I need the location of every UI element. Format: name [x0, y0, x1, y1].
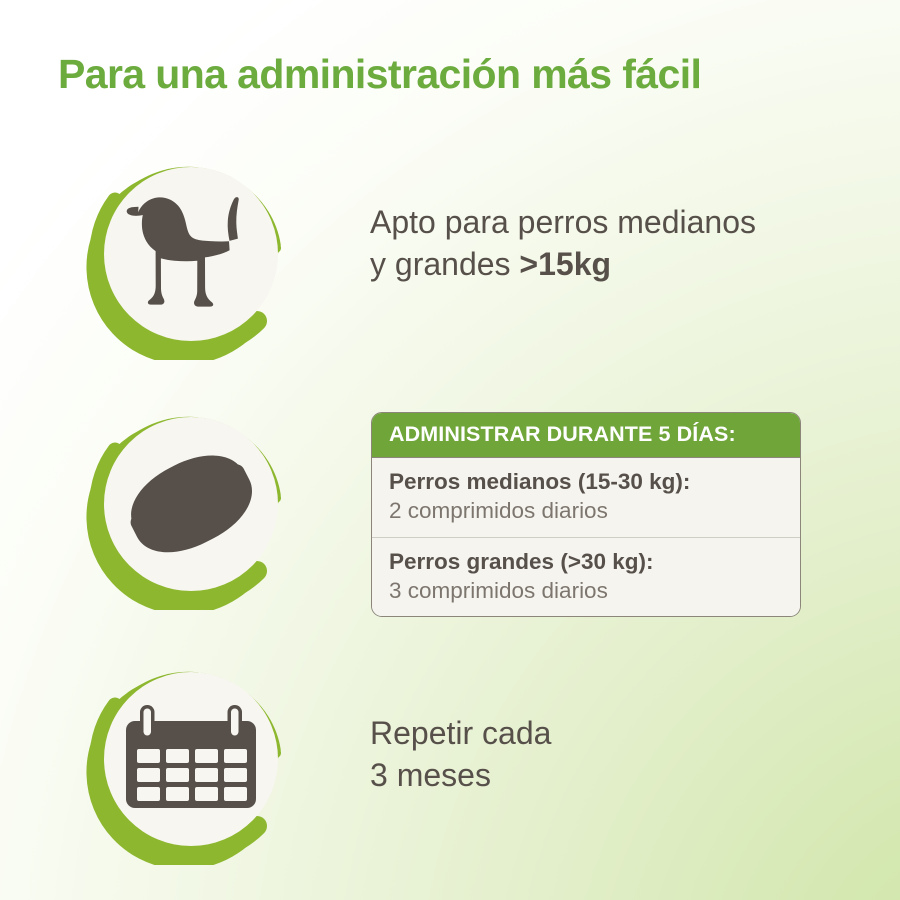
dosing-table-row: Perros medianos (15-30 kg): 2 comprimido… — [372, 458, 800, 537]
page-title: Para una administración más fácil — [58, 50, 858, 99]
feature-row-repeat: Repetir cada 3 meses — [0, 645, 900, 865]
feature-text-dog-size: Apto para perros medianos y grandes >15k… — [370, 202, 870, 286]
calendar-icon — [104, 672, 278, 846]
dog-icon — [104, 167, 278, 341]
dosing-table-row: Perros grandes (>30 kg): 3 comprimidos d… — [372, 537, 800, 617]
icon-badge-dog — [85, 148, 297, 360]
text-prefix: y grandes — [370, 246, 519, 282]
infographic-canvas: Para una administración más fácil — [0, 0, 900, 900]
dose-row-value: 2 comprimidos diarios — [389, 496, 800, 525]
icon-badge-calendar — [85, 653, 297, 865]
tablet-icon — [104, 417, 278, 591]
text-line: Repetir cada — [370, 713, 870, 755]
text-line: y grandes >15kg — [370, 244, 870, 286]
text-line: 3 meses — [370, 755, 870, 797]
dosing-table: ADMINISTRAR DURANTE 5 DÍAS: Perros media… — [371, 412, 801, 617]
feature-row-dog-size: Apto para perros medianos y grandes >15k… — [0, 140, 900, 360]
text-strong: >15kg — [519, 246, 611, 282]
dose-row-title: Perros medianos (15-30 kg): — [389, 467, 800, 496]
dosing-table-header: ADMINISTRAR DURANTE 5 DÍAS: — [372, 413, 800, 458]
text-line: Apto para perros medianos — [370, 202, 870, 244]
dose-row-title: Perros grandes (>30 kg): — [389, 547, 800, 576]
icon-badge-tablet — [85, 398, 297, 610]
feature-row-dosing: ADMINISTRAR DURANTE 5 DÍAS: Perros media… — [0, 390, 900, 610]
dose-row-value: 3 comprimidos diarios — [389, 576, 800, 605]
feature-text-repeat: Repetir cada 3 meses — [370, 713, 870, 797]
